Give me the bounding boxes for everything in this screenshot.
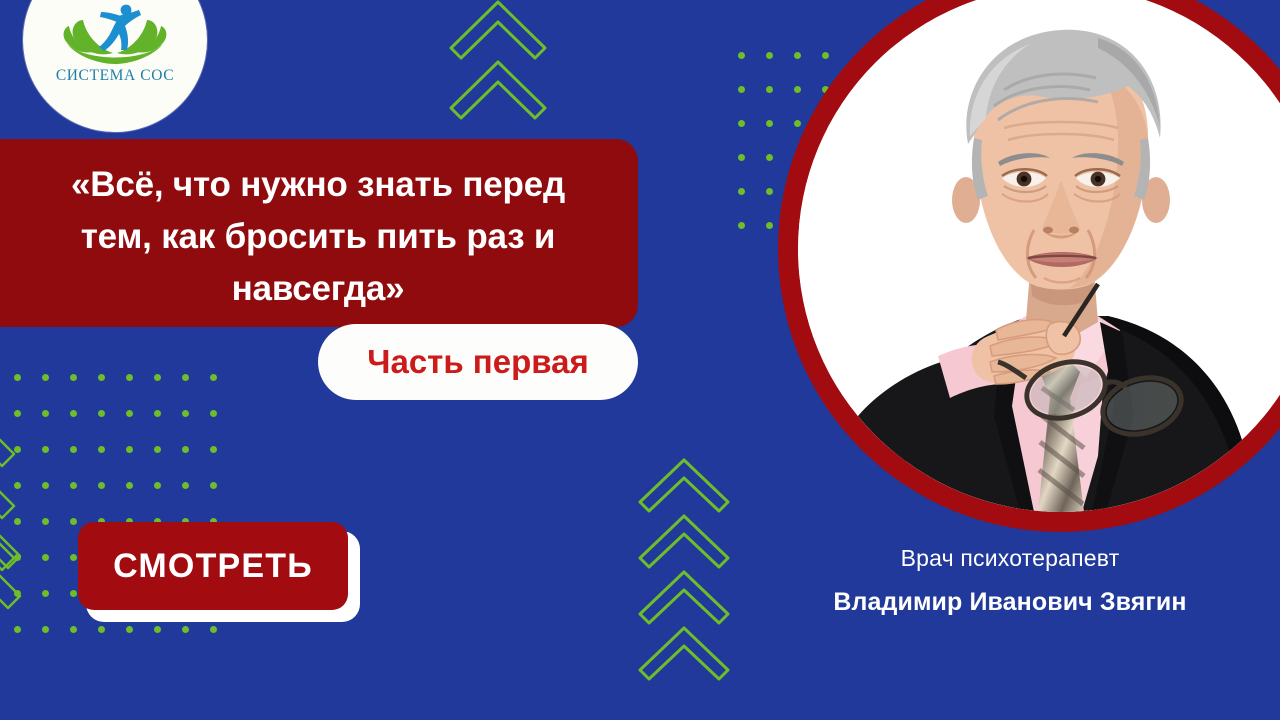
dot-icon: [182, 446, 189, 453]
dot-icon: [14, 518, 21, 525]
dot-icon: [738, 188, 745, 195]
dot-icon: [210, 446, 217, 453]
dot-icon: [42, 374, 49, 381]
dot-icon: [42, 482, 49, 489]
dot-icon: [210, 410, 217, 417]
dot-icon: [14, 374, 21, 381]
dot-icon: [98, 374, 105, 381]
dot-icon: [738, 120, 745, 127]
person-over-water-splash-icon: [59, 4, 171, 66]
dot-icon: [98, 482, 105, 489]
dot-icon: [126, 374, 133, 381]
dot-icon: [70, 374, 77, 381]
dot-icon: [14, 410, 21, 417]
dot-icon: [766, 52, 773, 59]
dot-icon: [182, 374, 189, 381]
dot-icon: [14, 482, 21, 489]
dot-icon: [42, 554, 49, 561]
dot-icon: [126, 446, 133, 453]
dot-icon: [154, 446, 161, 453]
dot-icon: [98, 410, 105, 417]
speaker-caption: Врач психотерапевт Владимир Иванович Звя…: [760, 545, 1260, 617]
dot-icon: [766, 188, 773, 195]
quote-text: «Всё, что нужно знать перед тем, как бро…: [22, 159, 614, 315]
dot-icon: [70, 446, 77, 453]
dot-icon: [182, 482, 189, 489]
dot-icon: [738, 52, 745, 59]
dot-icon: [42, 626, 49, 633]
dot-icon: [70, 410, 77, 417]
part-badge: Часть первая: [318, 324, 638, 400]
dot-icon: [70, 518, 77, 525]
speaker-role: Врач психотерапевт: [760, 545, 1260, 572]
dot-icon: [42, 446, 49, 453]
promo-banner: СИСТЕМА СОС «Всё, что нужно знать перед …: [0, 0, 1280, 720]
quote-banner: «Всё, что нужно знать перед тем, как бро…: [0, 139, 638, 327]
dot-icon: [182, 626, 189, 633]
dot-icon: [154, 374, 161, 381]
chevron-up-icon-group-bottom: [632, 452, 752, 692]
dot-icon: [738, 222, 745, 229]
dot-icon: [70, 626, 77, 633]
dot-icon: [154, 626, 161, 633]
speaker-name: Владимир Иванович Звягин: [760, 588, 1260, 617]
dot-icon: [766, 154, 773, 161]
dot-icon: [182, 410, 189, 417]
dot-icon: [42, 590, 49, 597]
dot-icon: [210, 626, 217, 633]
dot-icon: [126, 626, 133, 633]
dot-icon: [154, 482, 161, 489]
dot-icon: [42, 518, 49, 525]
dot-icon: [98, 626, 105, 633]
dot-icon: [766, 120, 773, 127]
dot-icon: [766, 222, 773, 229]
dot-icon: [154, 410, 161, 417]
dot-icon: [70, 590, 77, 597]
dot-icon: [14, 446, 21, 453]
dot-icon: [126, 482, 133, 489]
dot-icon: [210, 482, 217, 489]
watch-button[interactable]: СМОТРЕТЬ: [78, 522, 348, 610]
dot-icon: [766, 86, 773, 93]
part-badge-label: Часть первая: [367, 343, 588, 381]
dot-icon: [126, 410, 133, 417]
dot-icon: [210, 374, 217, 381]
dot-icon: [42, 410, 49, 417]
speaker-portrait: [798, 0, 1280, 512]
brand-logo-text: СИСТЕМА СОС: [23, 67, 207, 85]
dot-icon: [738, 154, 745, 161]
dot-icon: [70, 554, 77, 561]
dot-icon: [14, 626, 21, 633]
dot-icon: [98, 446, 105, 453]
dot-icon: [14, 590, 21, 597]
dot-icon: [70, 482, 77, 489]
brand-logo-badge[interactable]: СИСТЕМА СОС: [23, 0, 207, 132]
dot-icon: [738, 86, 745, 93]
watch-button-wrapper: СМОТРЕТЬ: [78, 522, 360, 622]
dot-icon: [14, 554, 21, 561]
